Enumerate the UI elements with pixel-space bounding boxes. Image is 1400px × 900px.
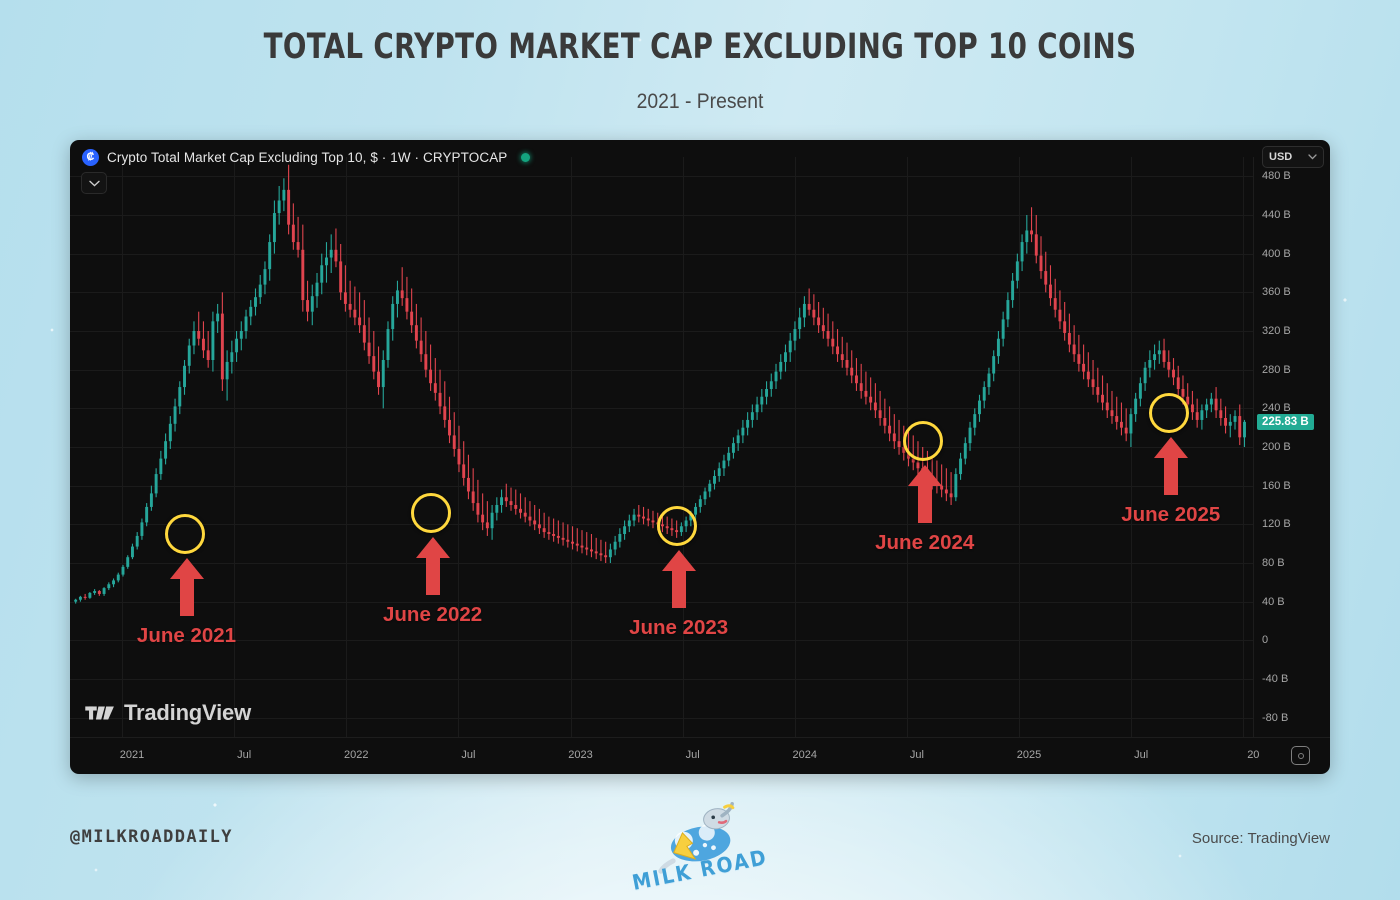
tradingview-watermark-label: TradingView (124, 700, 251, 726)
price-axis-label: 40 B (1262, 596, 1285, 608)
time-axis-label: Jul (1134, 749, 1148, 761)
price-axis-label: 320 B (1262, 325, 1291, 337)
price-axis-label: 80 B (1262, 557, 1285, 569)
time-axis-label: 20 (1247, 749, 1259, 761)
gear-icon[interactable] (1291, 746, 1310, 765)
symbol-title[interactable]: Crypto Total Market Cap Excluding Top 10… (107, 150, 507, 165)
source-credit: Source: TradingView (1192, 830, 1330, 847)
chevron-down-icon (89, 180, 100, 187)
time-axis-label: 2023 (568, 749, 592, 761)
tradingview-watermark: TradingView (85, 700, 251, 726)
time-axis-label: 2024 (793, 749, 817, 761)
currency-select[interactable]: USD (1262, 146, 1324, 168)
price-axis-label: 360 B (1262, 286, 1291, 298)
price-axis-label: 160 B (1262, 480, 1291, 492)
current-price-tag: 225.83 B (1257, 414, 1314, 430)
page-subtitle: 2021 - Present (56, 90, 1344, 114)
chart-topbar: ₡ Crypto Total Market Cap Excluding Top … (70, 140, 1330, 174)
currency-value: USD (1269, 151, 1292, 163)
price-axis[interactable]: 480 B440 B400 B360 B320 B280 B240 B200 B… (1253, 157, 1330, 737)
price-axis-label: 120 B (1262, 518, 1291, 530)
price-axis-label: 240 B (1262, 402, 1291, 414)
chevron-down-icon (1308, 154, 1317, 160)
collapse-legend-button[interactable] (81, 172, 107, 194)
price-axis-label: 440 B (1262, 209, 1291, 221)
price-axis-label: 0 (1262, 634, 1268, 646)
page-title: TOTAL CRYPTO MARKET CAP EXCLUDING TOP 10… (84, 27, 1316, 67)
plot-area[interactable] (70, 157, 1253, 737)
social-handle: @MILKROADDAILY (70, 827, 233, 847)
time-axis-label: 2021 (120, 749, 144, 761)
price-axis-label: 400 B (1262, 248, 1291, 260)
time-axis-label: Jul (461, 749, 475, 761)
market-open-dot-icon (521, 153, 530, 162)
price-axis-label: 200 B (1262, 441, 1291, 453)
candlestick-series (70, 157, 1253, 737)
time-axis[interactable]: 2021Jul2022Jul2023Jul2024Jul2025Jul20 (70, 737, 1330, 774)
symbol-icon: ₡ (82, 149, 99, 166)
time-axis-label: Jul (237, 749, 251, 761)
tradingview-logo-icon (85, 704, 115, 722)
time-axis-label: 2025 (1017, 749, 1041, 761)
price-axis-label: -40 B (1262, 673, 1288, 685)
price-axis-label: -80 B (1262, 712, 1288, 724)
time-axis-label: 2022 (344, 749, 368, 761)
time-axis-label: Jul (686, 749, 700, 761)
time-axis-label: Jul (910, 749, 924, 761)
price-axis-label: 280 B (1262, 364, 1291, 376)
chart-panel: ₡ Crypto Total Market Cap Excluding Top … (70, 140, 1330, 774)
